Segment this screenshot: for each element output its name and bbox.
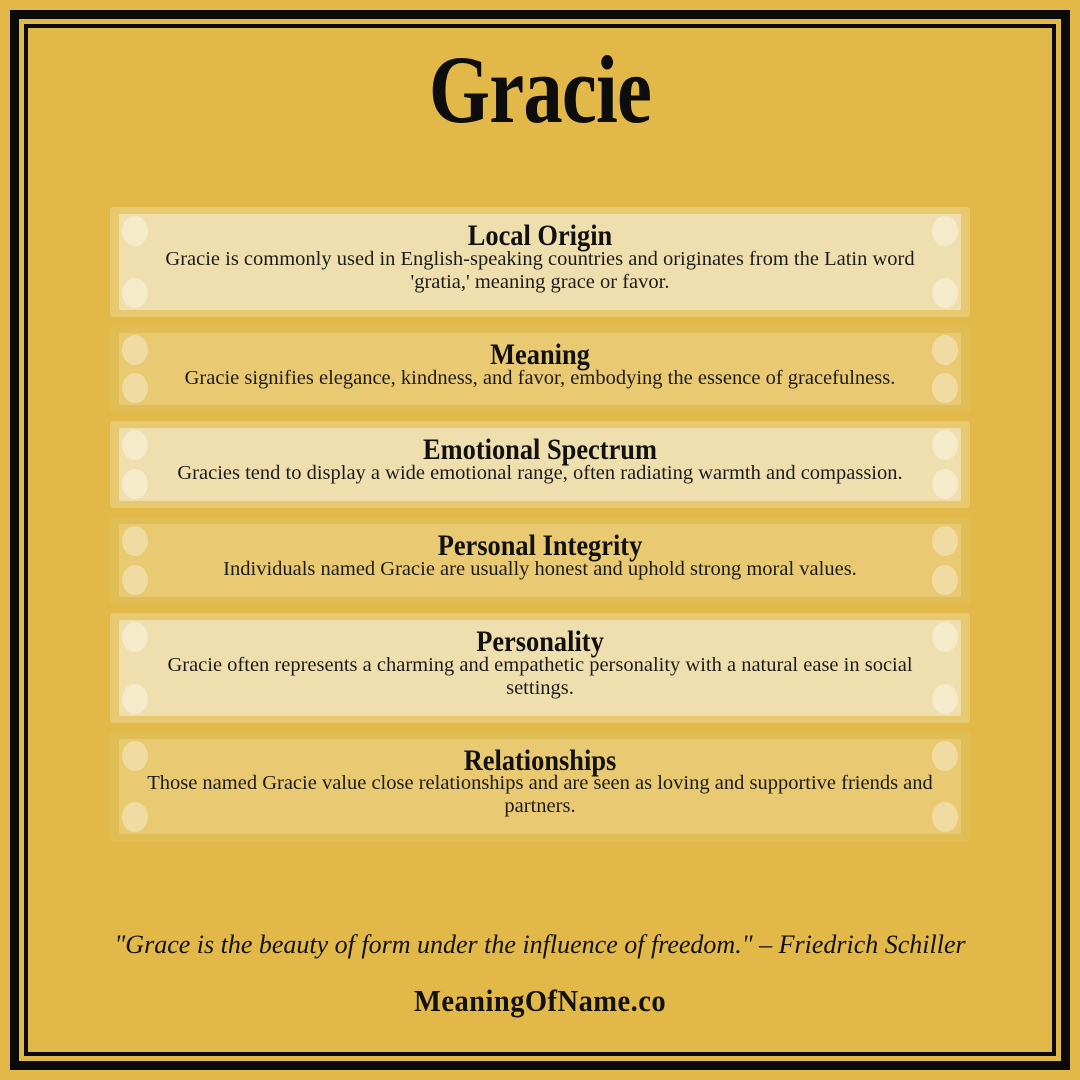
card-personality: Personality Gracie often represents a ch… xyxy=(110,613,970,723)
rivet-icon xyxy=(932,565,958,595)
rivet-icon xyxy=(932,430,958,460)
poster-canvas: Gracie Local Origin Gracie is commonly u… xyxy=(0,0,1080,1080)
rivet-icon xyxy=(932,526,958,556)
rivet-icon xyxy=(932,216,958,246)
rivet-icon xyxy=(932,335,958,365)
card-title: Personality xyxy=(192,626,887,658)
card-inner-panel: Local Origin Gracie is commonly used in … xyxy=(119,214,961,310)
rivet-icon xyxy=(122,741,148,771)
card-title: Meaning xyxy=(192,339,887,371)
rivet-icon xyxy=(932,802,958,832)
card-title: Relationships xyxy=(192,745,887,777)
card-title: Emotional Spectrum xyxy=(192,434,887,466)
card-relationships: Relationships Those named Gracie value c… xyxy=(110,732,970,842)
poster-content: Gracie Local Origin Gracie is commonly u… xyxy=(28,28,1052,1052)
card-local-origin: Local Origin Gracie is commonly used in … xyxy=(110,207,970,317)
footer-quote: "Grace is the beauty of form under the i… xyxy=(28,930,1052,960)
rivet-icon xyxy=(122,622,148,652)
rivet-icon xyxy=(932,684,958,714)
rivet-icon xyxy=(122,216,148,246)
card-description: Gracie often represents a charming and e… xyxy=(145,654,935,700)
card-list: Local Origin Gracie is commonly used in … xyxy=(110,207,970,850)
card-title: Personal Integrity xyxy=(192,530,887,562)
rivet-icon xyxy=(932,373,958,403)
rivet-icon xyxy=(932,469,958,499)
card-description: Those named Gracie value close relations… xyxy=(145,772,935,818)
rivet-icon xyxy=(932,622,958,652)
page-title: Gracie xyxy=(120,42,960,138)
rivet-icon xyxy=(932,278,958,308)
rivet-icon xyxy=(122,430,148,460)
card-inner-panel: Meaning Gracie signifies elegance, kindn… xyxy=(119,333,961,406)
card-inner-panel: Emotional Spectrum Gracies tend to displ… xyxy=(119,428,961,501)
card-inner-panel: Personal Integrity Individuals named Gra… xyxy=(119,524,961,597)
card-inner-panel: Personality Gracie often represents a ch… xyxy=(119,620,961,716)
rivet-icon xyxy=(932,741,958,771)
card-emotional-spectrum: Emotional Spectrum Gracies tend to displ… xyxy=(110,421,970,508)
card-meaning: Meaning Gracie signifies elegance, kindn… xyxy=(110,326,970,413)
rivet-icon xyxy=(122,526,148,556)
card-personal-integrity: Personal Integrity Individuals named Gra… xyxy=(110,517,970,604)
card-title: Local Origin xyxy=(192,220,887,252)
footer-brand: MeaningOfName.co xyxy=(69,983,1011,1019)
rivet-icon xyxy=(122,335,148,365)
card-description: Gracie is commonly used in English-speak… xyxy=(145,248,935,294)
card-inner-panel: Relationships Those named Gracie value c… xyxy=(119,739,961,835)
